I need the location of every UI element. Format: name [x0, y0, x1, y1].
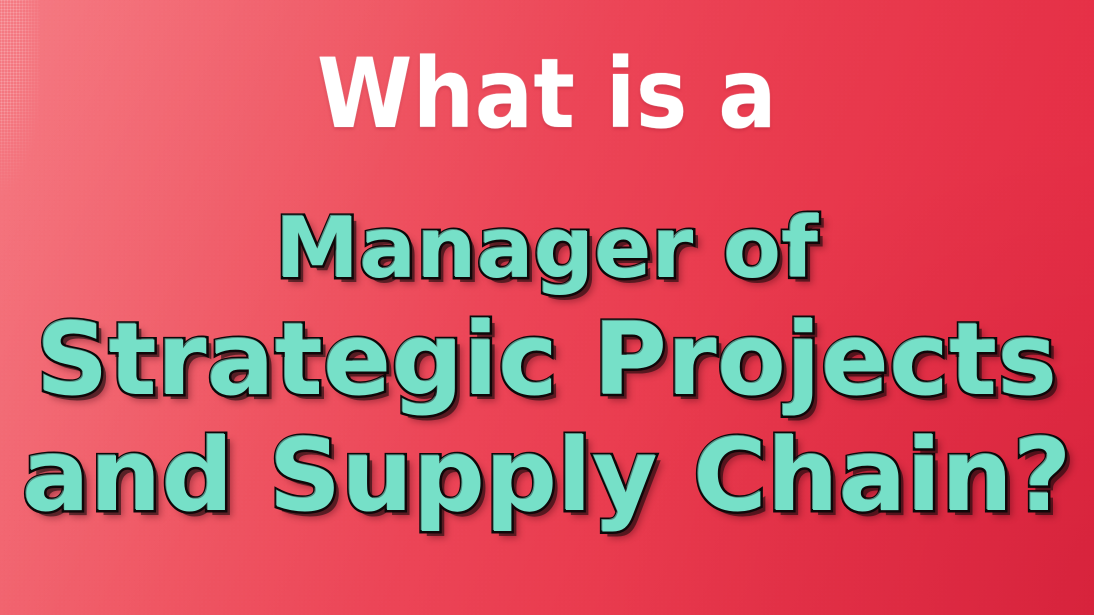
headline-line-2: Manager of — [276, 206, 819, 290]
headline-line-3: Strategic Projects — [36, 310, 1057, 410]
headline-line-4: and Supply Chain? — [22, 426, 1072, 526]
headline-block: What is a Manager of Strategic Projects … — [0, 0, 1094, 615]
title-slide: What is a Manager of Strategic Projects … — [0, 0, 1094, 615]
headline-line-1: What is a — [317, 46, 777, 142]
